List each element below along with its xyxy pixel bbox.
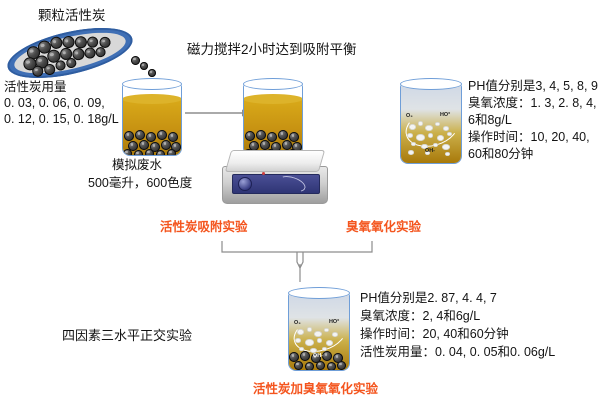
carbon-dose-line3: 0. 12, 0. 15, 0. 18g/L	[4, 112, 119, 128]
granular-carbon-oval	[3, 18, 137, 88]
ozone-params-line2: 臭氧浓度：1. 3, 2. 8, 4,	[468, 96, 597, 112]
ozone-label: O₃	[294, 320, 301, 326]
carbon-granule-trail	[140, 62, 148, 70]
branch-label-adsorption: 活性炭吸附实验	[160, 216, 248, 235]
ozone-params-line1: PH值分别是3, 4, 5, 8, 9	[468, 79, 598, 95]
beaker-adsorption-stirring	[243, 78, 303, 156]
hydroxyl-radical-label: HO°	[329, 319, 339, 325]
branch-label-ozonation: 臭氧氧化实验	[346, 216, 421, 235]
ozone-label: O₃	[406, 113, 413, 119]
page-title: 颗粒活性炭	[38, 8, 106, 24]
combined-params-line4: 活性炭用量：0. 04, 0. 05和0. 06g/L	[360, 345, 555, 361]
beaker-combined: O₃ HO° OH-	[288, 287, 350, 371]
carbon-granule-trail	[131, 56, 140, 65]
beaker-adsorption-initial	[122, 78, 182, 156]
combined-params-line1: PH值分别是2. 87, 4. 4, 7	[360, 291, 497, 307]
hydroxide-label: OH-	[425, 148, 435, 154]
beaker-ozonation: O₃ HO° OH-	[400, 78, 462, 164]
wastewater-line2: 500毫升，600色度	[88, 176, 192, 192]
stir-caption: 磁力搅拌2小时达到吸附平衡	[187, 42, 357, 58]
carbon-granule-trail	[148, 69, 156, 77]
combined-params-line3: 操作时间：20, 40和60分钟	[360, 327, 509, 343]
branch-label-combined: 活性炭加臭氧氧化实验	[253, 378, 378, 397]
hydroxide-label: OH-	[313, 353, 323, 359]
ozone-params-line3: 6和8g/L	[468, 113, 512, 129]
magnetic-stirrer	[222, 150, 326, 202]
stirrer-knob[interactable]	[238, 177, 252, 191]
ozone-params-line5: 60和80分钟	[468, 147, 533, 163]
combined-params-line2: 臭氧浓度：2, 4和6g/L	[360, 309, 480, 325]
orthogonal-design-label: 四因素三水平正交实验	[62, 328, 192, 344]
carbon-dose-line2: 0. 03, 0. 06, 0. 09,	[4, 96, 105, 112]
wastewater-line1: 模拟废水	[112, 158, 162, 174]
hydroxyl-radical-label: HO°	[440, 112, 450, 118]
ozone-params-line4: 操作时间：10, 20, 40,	[468, 130, 590, 146]
carbon-dose-line1: 活性炭用量	[4, 80, 67, 96]
